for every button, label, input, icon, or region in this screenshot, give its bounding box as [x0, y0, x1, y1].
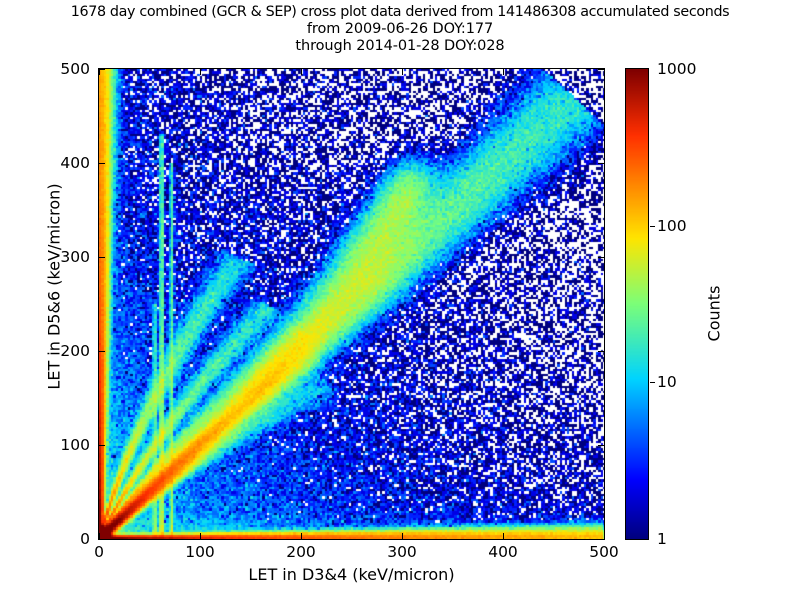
y-tick-200: [99, 351, 105, 352]
x-tick-label-300: 300: [387, 543, 417, 561]
colorbar-tick-label-100: 100: [657, 217, 687, 235]
y-tick-right-0: [598, 539, 604, 540]
x-axis-label: LET in D3&4 (keV/micron): [98, 565, 605, 584]
x-tick-label-200: 200: [286, 543, 316, 561]
y-tick-label-0: 0: [42, 530, 90, 548]
x-tick-400: [503, 533, 504, 539]
y-tick-right-400: [598, 163, 604, 164]
x-tick-top-200: [301, 69, 302, 75]
colorbar-tick-label-10: 10: [657, 373, 677, 391]
y-tick-0: [99, 539, 105, 540]
x-tick-500: [604, 533, 605, 539]
x-tick-300: [402, 533, 403, 539]
x-tick-100: [200, 533, 201, 539]
colorbar[interactable]: [625, 68, 649, 540]
colorbar-label: Counts: [705, 254, 724, 374]
y-tick-100: [99, 445, 105, 446]
plot-area[interactable]: [98, 68, 605, 540]
y-tick-300: [99, 257, 105, 258]
x-tick-200: [301, 533, 302, 539]
y-tick-right-500: [598, 69, 604, 70]
colorbar-tick-100: [650, 226, 655, 227]
density-heatmap-canvas: [99, 69, 604, 539]
x-tick-top-500: [604, 69, 605, 75]
x-tick-label-400: 400: [488, 543, 518, 561]
x-tick-top-300: [402, 69, 403, 75]
title-line-2: from 2009-06-26 DOY:177: [0, 21, 800, 38]
colorbar-gradient-canvas: [626, 69, 648, 539]
y-tick-right-300: [598, 257, 604, 258]
figure-root: 1678 day combined (GCR & SEP) cross plot…: [0, 0, 800, 600]
colorbar-tick-label-1: 1: [657, 530, 667, 548]
x-tick-label-0: 0: [94, 543, 104, 561]
y-axis-label: LET in D5&6 (keV/micron): [45, 67, 64, 507]
x-tick-top-100: [200, 69, 201, 75]
x-tick-top-400: [503, 69, 504, 75]
y-tick-400: [99, 163, 105, 164]
x-tick-label-500: 500: [589, 543, 619, 561]
title-line-1: 1678 day combined (GCR & SEP) cross plot…: [0, 4, 800, 21]
colorbar-tick-10: [650, 382, 655, 383]
figure-title: 1678 day combined (GCR & SEP) cross plot…: [0, 4, 800, 55]
y-tick-500: [99, 69, 105, 70]
colorbar-tick-label-1000: 1000: [657, 60, 696, 78]
y-tick-right-100: [598, 445, 604, 446]
x-tick-label-100: 100: [185, 543, 215, 561]
y-tick-right-200: [598, 351, 604, 352]
title-line-3: through 2014-01-28 DOY:028: [0, 38, 800, 55]
